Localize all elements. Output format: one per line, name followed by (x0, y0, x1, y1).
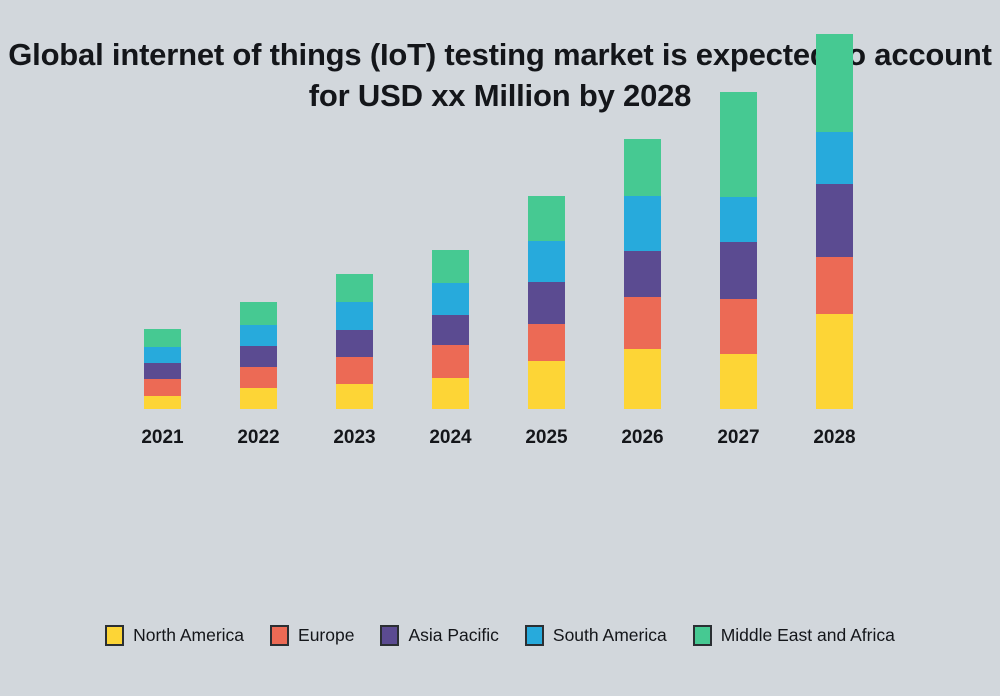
bar-segment-middle-east-and-africa[interactable] (432, 250, 469, 283)
bar-segment-south-america[interactable] (816, 132, 853, 184)
legend-item-europe[interactable]: Europe (270, 625, 354, 646)
bar-segment-europe[interactable] (624, 297, 661, 349)
bar-segment-middle-east-and-africa[interactable] (336, 274, 373, 302)
bar-segment-europe[interactable] (144, 379, 181, 396)
bar-segment-south-america[interactable] (240, 325, 277, 346)
bar-segment-middle-east-and-africa[interactable] (816, 34, 853, 132)
bar-segment-middle-east-and-africa[interactable] (624, 139, 661, 196)
x-axis-label-2028: 2028 (786, 427, 883, 449)
bar-segment-europe[interactable] (240, 367, 277, 388)
bar-stack (528, 196, 565, 409)
x-axis-label-2027: 2027 (690, 427, 787, 449)
bar-segment-middle-east-and-africa[interactable] (144, 329, 181, 347)
legend-swatch-asia-pacific (380, 625, 399, 646)
bar-segment-asia-pacific[interactable] (528, 282, 565, 324)
legend-swatch-middle-east-and-africa (693, 625, 712, 646)
chart-root: Global internet of things (IoT) testing … (0, 0, 1000, 696)
bar-segment-asia-pacific[interactable] (336, 330, 373, 357)
bar-segment-south-america[interactable] (624, 196, 661, 251)
bar-stack (144, 329, 181, 409)
chart-legend: North AmericaEuropeAsia PacificSouth Ame… (0, 625, 1000, 646)
bar-segment-middle-east-and-africa[interactable] (528, 196, 565, 241)
legend-swatch-europe (270, 625, 289, 646)
bar-stack (240, 302, 277, 409)
x-axis-label-2023: 2023 (306, 427, 403, 449)
bar-segment-south-america[interactable] (720, 197, 757, 242)
bar-segment-europe[interactable] (528, 324, 565, 361)
x-axis-label-2024: 2024 (402, 427, 499, 449)
bar-segment-asia-pacific[interactable] (624, 251, 661, 297)
bar-segment-asia-pacific[interactable] (144, 363, 181, 379)
bar-segment-south-america[interactable] (432, 283, 469, 315)
bar-segment-north-america[interactable] (624, 349, 661, 409)
bar-segment-asia-pacific[interactable] (240, 346, 277, 367)
bar-segment-asia-pacific[interactable] (432, 315, 469, 345)
bar-segment-north-america[interactable] (816, 314, 853, 409)
bar-segment-north-america[interactable] (240, 388, 277, 409)
x-axis-label-2021: 2021 (114, 427, 211, 449)
bar-segment-north-america[interactable] (528, 361, 565, 409)
bar-segment-europe[interactable] (432, 345, 469, 378)
legend-item-middle-east-and-africa[interactable]: Middle East and Africa (693, 625, 895, 646)
legend-label: Asia Pacific (408, 625, 498, 646)
bar-segment-north-america[interactable] (432, 378, 469, 409)
legend-label: Europe (298, 625, 354, 646)
bar-segment-middle-east-and-africa[interactable] (720, 92, 757, 197)
x-axis-label-2022: 2022 (210, 427, 307, 449)
bar-segment-south-america[interactable] (144, 347, 181, 363)
bar-segment-middle-east-and-africa[interactable] (240, 302, 277, 325)
legend-label: Middle East and Africa (721, 625, 895, 646)
bar-segment-europe[interactable] (816, 257, 853, 314)
bar-segment-north-america[interactable] (144, 396, 181, 409)
bar-segment-asia-pacific[interactable] (816, 184, 853, 257)
legend-swatch-north-america (105, 625, 124, 646)
bar-segment-south-america[interactable] (528, 241, 565, 282)
x-axis-label-2025: 2025 (498, 427, 595, 449)
legend-swatch-south-america (525, 625, 544, 646)
bar-segment-south-america[interactable] (336, 302, 373, 330)
plot-area: 20212022202320242025202620272028 (0, 0, 1000, 560)
bar-stack (816, 34, 853, 409)
legend-label: South America (553, 625, 667, 646)
bar-stack (336, 274, 373, 409)
x-axis-label-2026: 2026 (594, 427, 691, 449)
bar-segment-europe[interactable] (336, 357, 373, 384)
bar-stack (720, 92, 757, 409)
bar-stack (624, 139, 661, 409)
bar-segment-europe[interactable] (720, 299, 757, 354)
legend-item-north-america[interactable]: North America (105, 625, 244, 646)
bar-segment-asia-pacific[interactable] (720, 242, 757, 299)
bar-stack (432, 250, 469, 409)
legend-item-asia-pacific[interactable]: Asia Pacific (380, 625, 498, 646)
bar-segment-north-america[interactable] (720, 354, 757, 409)
bar-segment-north-america[interactable] (336, 384, 373, 409)
legend-label: North America (133, 625, 244, 646)
legend-item-south-america[interactable]: South America (525, 625, 667, 646)
